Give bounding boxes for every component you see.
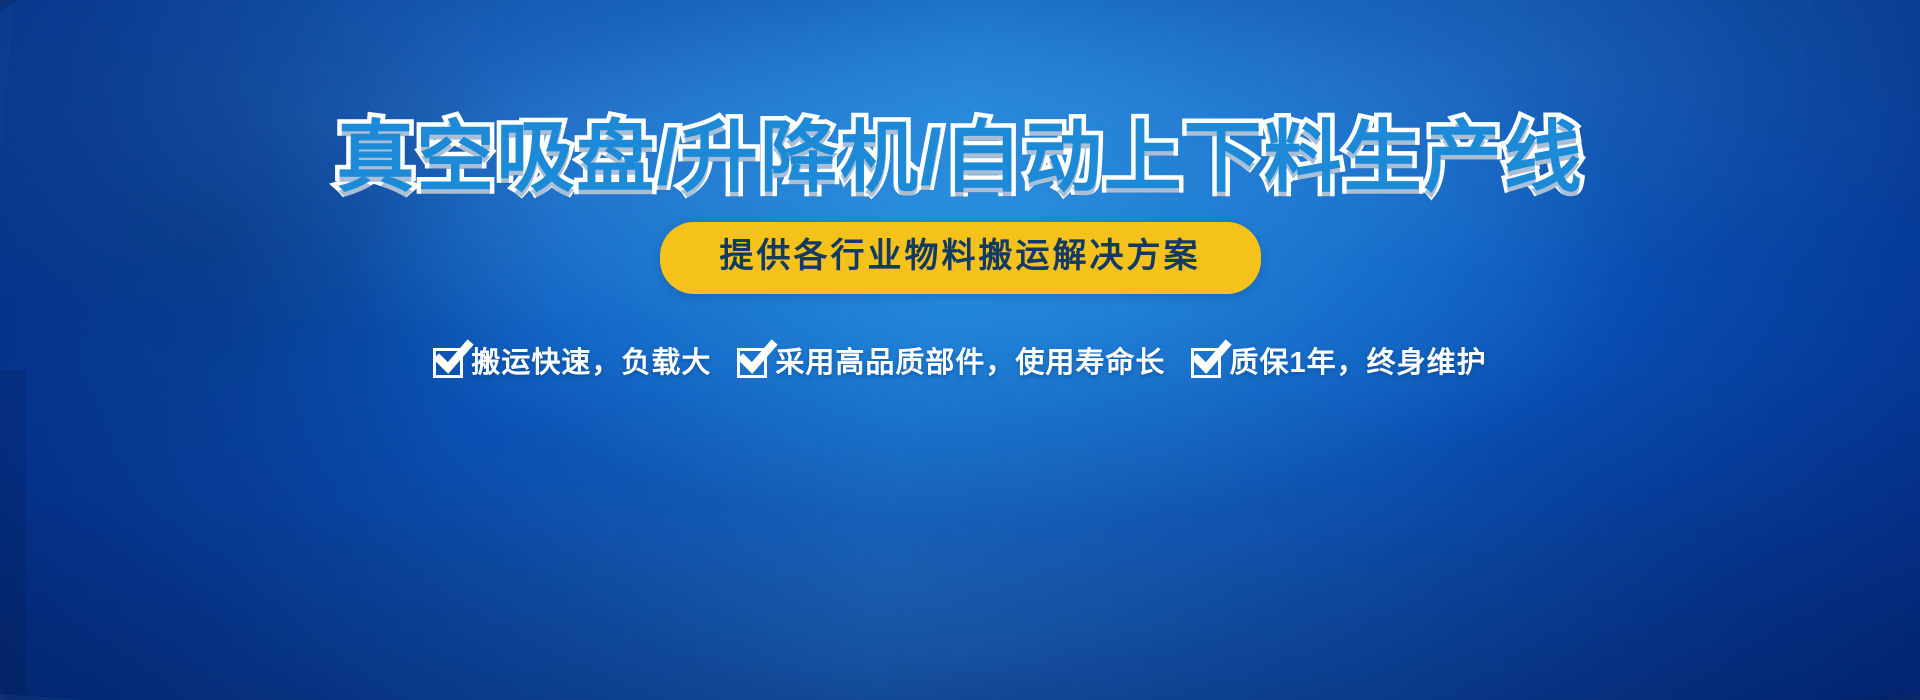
feature-label: 采用高品质部件，使用寿命长 bbox=[775, 349, 1165, 378]
feature-item: 质保1年，终身维护 bbox=[1191, 348, 1486, 378]
banner-headline: 真空吸盘/升降机/自动上下料生产线 bbox=[336, 118, 1583, 196]
feature-label: 质保1年，终身维护 bbox=[1229, 349, 1486, 378]
feature-list: 搬运快速，负载大 采用高品质部件，使用寿命长 质保1年，终身维护 bbox=[433, 348, 1486, 378]
feature-label: 搬运快速，负载大 bbox=[471, 349, 711, 378]
checkbox-check-icon bbox=[737, 348, 767, 378]
feature-item: 采用高品质部件，使用寿命长 bbox=[737, 348, 1165, 378]
checkbox-check-icon bbox=[433, 348, 463, 378]
hero-banner: 真空吸盘/升降机/自动上下料生产线 提供各行业物料搬运解决方案 搬运快速，负载大… bbox=[0, 0, 1920, 700]
banner-content: 真空吸盘/升降机/自动上下料生产线 提供各行业物料搬运解决方案 搬运快速，负载大… bbox=[0, 0, 1920, 700]
feature-item: 搬运快速，负载大 bbox=[433, 348, 711, 378]
checkbox-check-icon bbox=[1191, 348, 1221, 378]
banner-subtitle-badge: 提供各行业物料搬运解决方案 bbox=[660, 222, 1261, 294]
